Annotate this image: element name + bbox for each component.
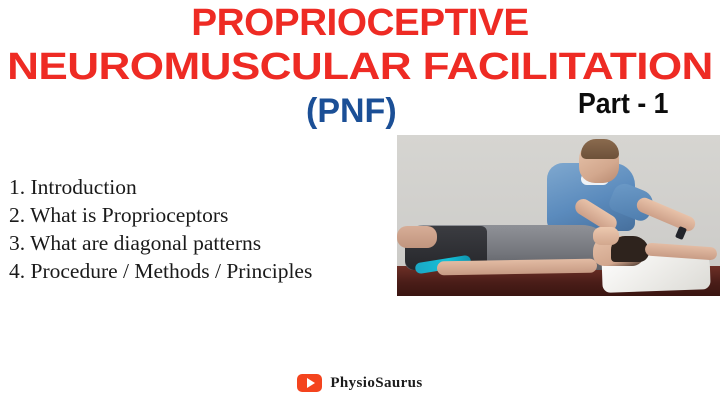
part-number-label: Part - 1	[578, 90, 668, 119]
therapy-photo	[397, 135, 720, 296]
play-triangle-icon	[307, 378, 315, 388]
agenda-item: 2. What is Proprioceptors	[9, 201, 399, 229]
channel-name: PhysioSaurus	[330, 375, 422, 392]
slide-title-line-1: PROPRIOCEPTIVE	[0, 4, 720, 42]
patient-arm	[437, 259, 597, 276]
agenda-item: 3. What are diagonal patterns	[9, 229, 399, 257]
agenda-list: 1. Introduction 2. What is Proprioceptor…	[9, 173, 399, 285]
slide-title-line-2: NEUROMUSCULAR FACILITATION	[0, 48, 720, 86]
therapist-hands	[593, 227, 619, 245]
agenda-item: 4. Procedure / Methods / Principles	[9, 257, 399, 285]
patient-legs	[397, 226, 437, 248]
therapist-hair	[581, 139, 619, 159]
agenda-item: 1. Introduction	[9, 173, 399, 201]
presentation-slide: PROPRIOCEPTIVE NEUROMUSCULAR FACILITATIO…	[0, 0, 720, 404]
slide-title-acronym: (PNF)	[306, 94, 397, 128]
youtube-icon	[297, 374, 322, 392]
brand-footer: PhysioSaurus	[0, 374, 720, 392]
